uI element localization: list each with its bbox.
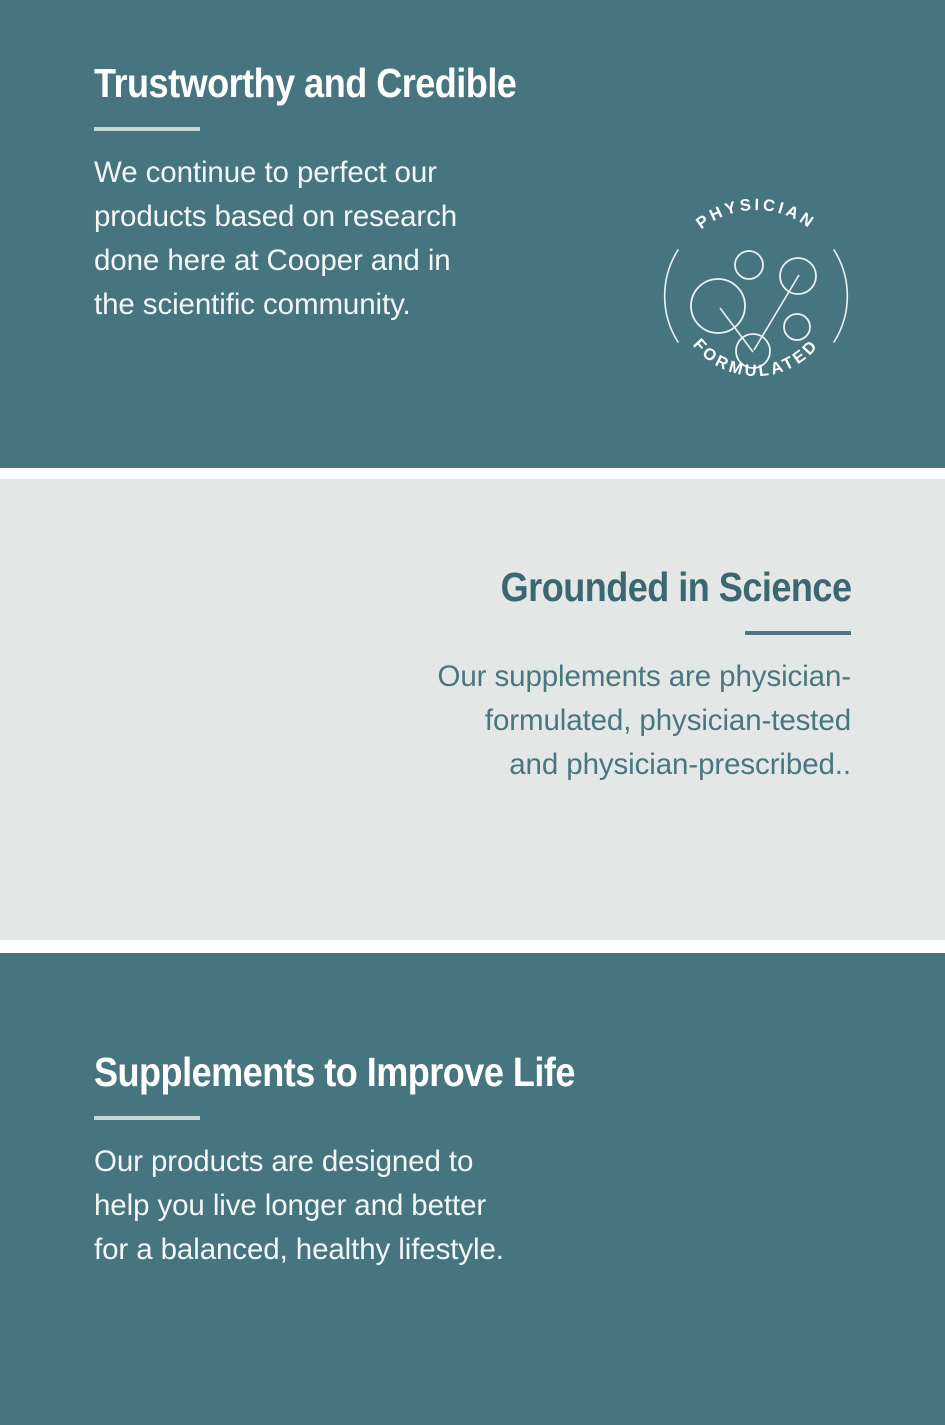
panel-3-text-block: Supplements to Improve Life Our products…: [94, 1051, 641, 1272]
panel-2-text-block: Grounded in Science Our supplements are …: [438, 566, 851, 787]
panel-grounded-in-science: Grounded in Science Our supplements are …: [0, 479, 945, 940]
panel-trustworthy-and-credible: Trustworthy and Credible We continue to …: [0, 0, 945, 468]
physician-formulated-badge-icon: PHYSICIAN FORMULATED: [648, 188, 864, 404]
svg-text:PHYSICIAN: PHYSICIAN: [693, 196, 819, 233]
panel-1-divider: [94, 127, 200, 131]
panel-1-text-block: Trustworthy and Credible We continue to …: [94, 62, 574, 327]
panel-supplements-to-improve-life: Supplements to Improve Life Our products…: [0, 953, 945, 1425]
marketing-feature-panels: Trustworthy and Credible We continue to …: [0, 0, 945, 1425]
panel-2-heading: Grounded in Science: [487, 566, 851, 609]
panel-3-heading: Supplements to Improve Life: [94, 1051, 575, 1094]
panel-2-divider: [745, 631, 851, 635]
panel-2-body: Our supplements are physician- formulate…: [438, 655, 851, 787]
panel-3-body: Our products are designed to help you li…: [94, 1140, 641, 1272]
svg-text:FORMULATED: FORMULATED: [689, 335, 822, 380]
panel-1-heading: Trustworthy and Credible: [94, 62, 516, 105]
panel-1-body: We continue to perfect our products base…: [94, 151, 574, 327]
panel-3-divider: [94, 1116, 200, 1120]
